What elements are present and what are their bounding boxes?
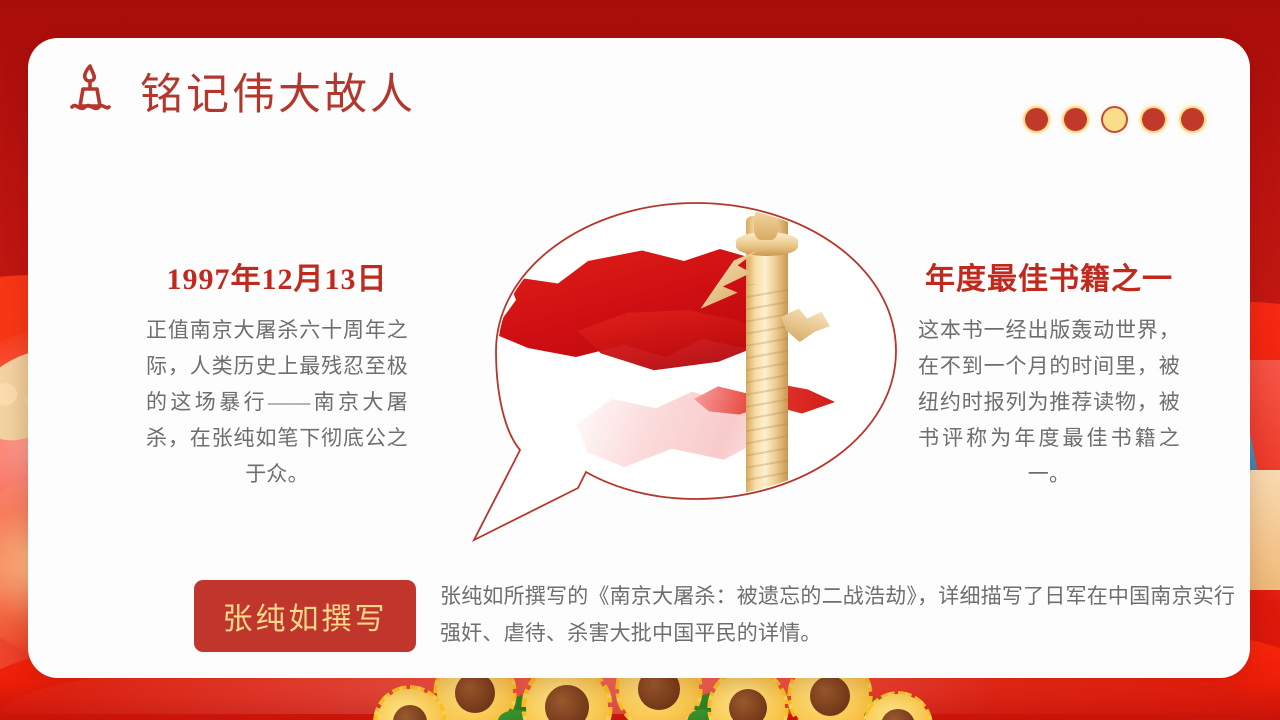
footer-paragraph: 张纯如所撰写的《南京大屠杀：被遗忘的二战浩劫》，详细描写了日军在中国南京实行强奸… <box>440 578 1240 653</box>
slide-indicator-dots[interactable] <box>1025 108 1204 131</box>
card-header: 铭记伟大故人 <box>62 60 416 122</box>
dot-1[interactable] <box>1025 108 1048 131</box>
left-column-body: 正值南京大屠杀六十周年之际，人类历史上最残忍至极的这场暴行——南京大屠杀，在张纯… <box>146 312 408 493</box>
right-column: 年度最佳书籍之一 这本书一经出版轰动世界，在不到一个月的时间里，被纽约时报列为推… <box>918 254 1180 493</box>
speech-bubble-illustration <box>458 188 918 568</box>
left-column-heading: 1997年12月13日 <box>146 254 408 298</box>
dot-2[interactable] <box>1064 108 1087 131</box>
right-column-body: 这本书一经出版轰动世界，在不到一个月的时间里，被纽约时报列为推荐读物，被书评称为… <box>918 312 1180 493</box>
page-title: 铭记伟大故人 <box>140 60 416 122</box>
dot-4[interactable] <box>1142 108 1165 131</box>
right-column-heading: 年度最佳书籍之一 <box>918 254 1180 298</box>
left-column: 1997年12月13日 正值南京大屠杀六十周年之际，人类历史上最残忍至极的这场暴… <box>146 254 408 493</box>
dot-5[interactable] <box>1181 108 1204 131</box>
slide-canvas: 铭记伟大故人 1997年12月13日 正值南京大屠杀六十周年之际，人类历史上最残… <box>0 0 1280 720</box>
dot-3-active[interactable] <box>1103 108 1126 131</box>
pillar-texture <box>746 284 788 484</box>
author-button[interactable]: 张纯如撰写 <box>194 580 416 652</box>
candle-icon <box>62 62 118 120</box>
content-card: 铭记伟大故人 1997年12月13日 正值南京大屠杀六十周年之际，人类历史上最残… <box>28 38 1250 678</box>
